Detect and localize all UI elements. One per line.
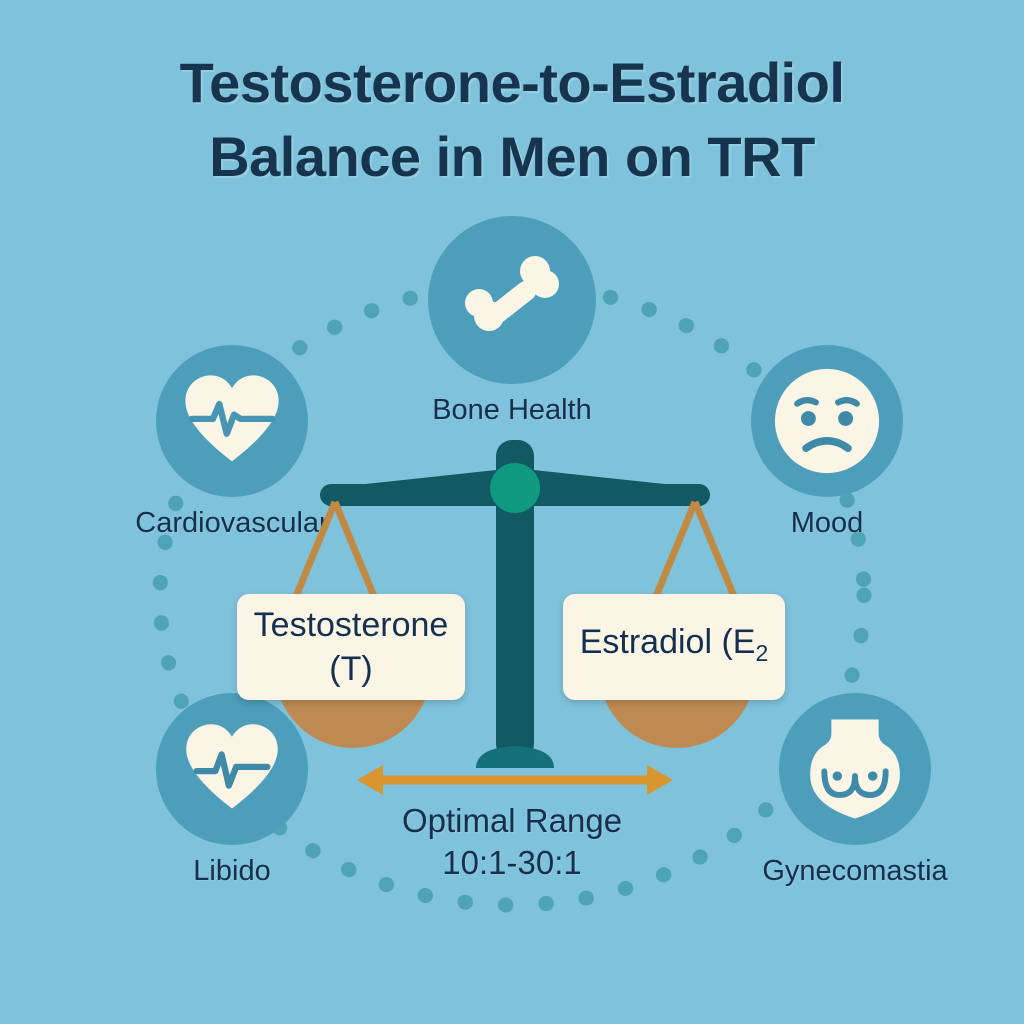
title-line-1: Testosterone-to-Estradiol xyxy=(0,46,1024,120)
testosterone-label: Testosterone xyxy=(254,606,449,644)
testosterone-abbrev: (T) xyxy=(329,650,372,688)
heart-pulse-icon xyxy=(180,717,284,821)
optimal-range-label: Optimal Range xyxy=(312,800,712,842)
chest-torso-icon xyxy=(796,710,914,828)
sad-face-icon xyxy=(765,359,889,483)
pivot-circle-icon xyxy=(490,463,540,513)
page-title: Testosterone-to-Estradiol Balance in Men… xyxy=(0,46,1024,194)
optimal-range-value: 10:1-30:1 xyxy=(312,842,712,884)
gynecomastia-label: Gynecomastia xyxy=(690,855,1020,888)
optimal-range-caption: Optimal Range 10:1-30:1 xyxy=(312,800,712,884)
bone-icon xyxy=(452,240,572,360)
mood-circle xyxy=(751,345,903,497)
estradiol-subscript: 2 xyxy=(755,639,768,665)
bone-health-circle xyxy=(428,216,596,384)
estradiol-card: Estradiol (E2 xyxy=(563,594,785,700)
estradiol-label: Estradiol (E xyxy=(580,623,756,661)
hanger-left-icon xyxy=(292,502,378,606)
hanger-right-icon xyxy=(652,502,738,606)
testosterone-card: Testosterone (T) xyxy=(237,594,465,700)
node-bone-health: Bone Health xyxy=(362,216,662,427)
infographic-canvas: Testosterone-to-Estradiol Balance in Men… xyxy=(0,0,1024,1024)
bone-health-label: Bone Health xyxy=(362,394,662,427)
gynecomastia-circle xyxy=(779,693,931,845)
heart-pulse-icon xyxy=(179,368,285,474)
title-line-2: Balance in Men on TRT xyxy=(0,120,1024,194)
double-headed-arrow-icon xyxy=(355,760,675,800)
